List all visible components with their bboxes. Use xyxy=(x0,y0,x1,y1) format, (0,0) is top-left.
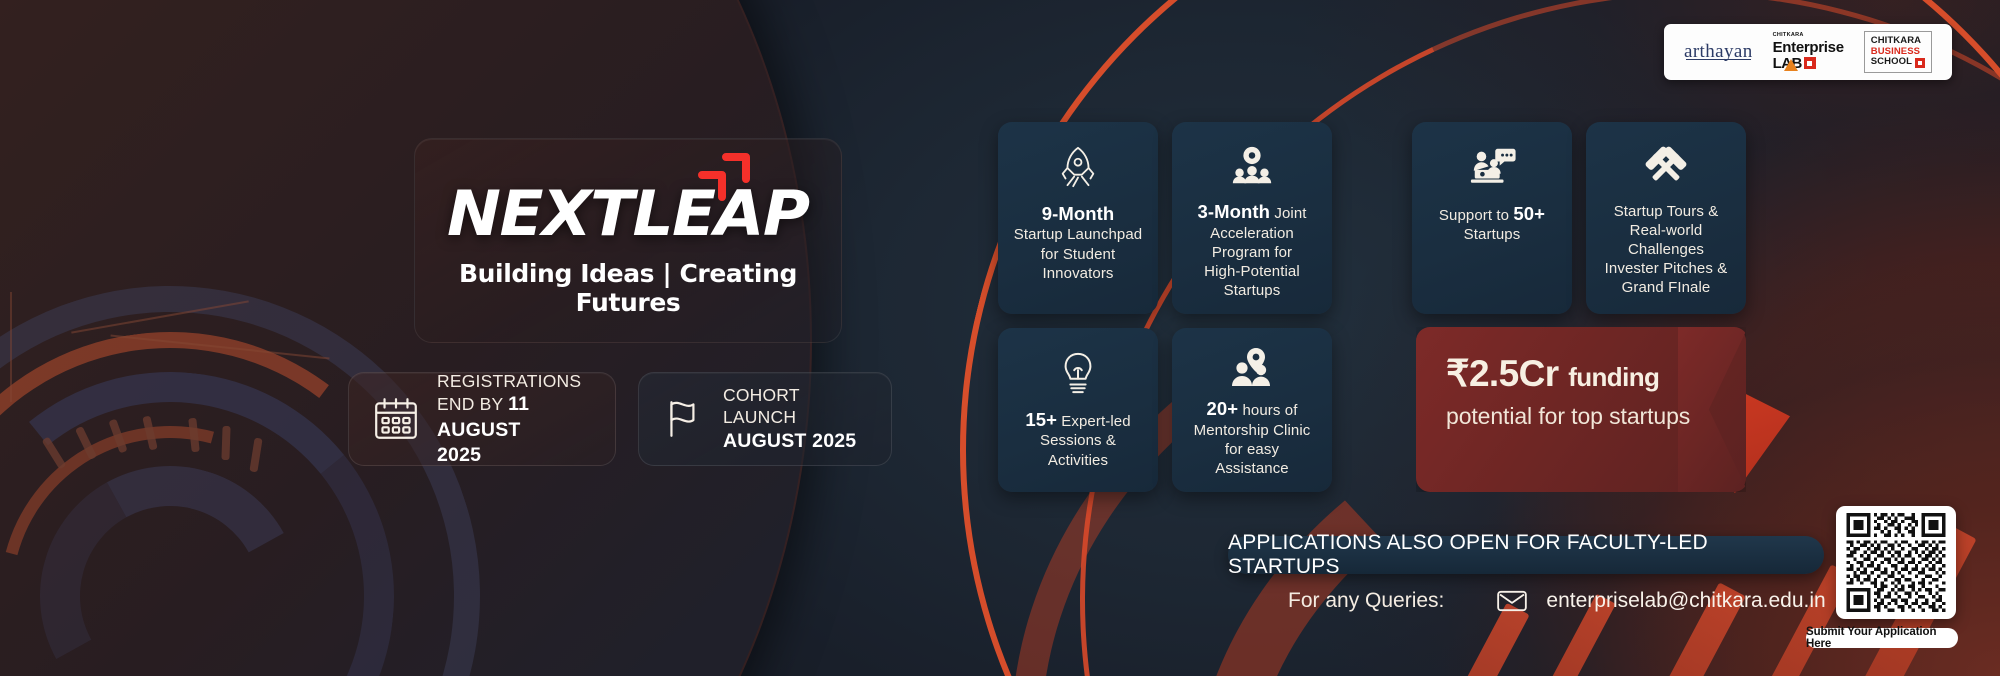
cbs-line-3: SCHOOL xyxy=(1871,57,1912,68)
feature-bold-50: 50+ xyxy=(1513,203,1545,224)
arthayan-logo: arthayan xyxy=(1684,41,1753,63)
feature-line: Startups xyxy=(1224,282,1281,299)
mentor-desk-icon xyxy=(1467,138,1517,196)
nextleap-arrow-icon xyxy=(696,149,752,201)
enterprise-lab-logo: CHITKARA Enterprise LAB xyxy=(1773,33,1844,71)
brand-tagline: Building Ideas | Creating Futures xyxy=(415,259,841,317)
cbs-line-3-row: SCHOOL xyxy=(1871,57,1925,68)
applications-open-bar: APPLICATIONS ALSO OPEN FOR FACULTY-LED S… xyxy=(1228,536,1824,574)
brand-name: NEXTLEAP xyxy=(447,183,809,245)
feature-card-tours: Startup Tours & Real-world Challenges In… xyxy=(1586,122,1746,314)
qr-code-icon[interactable] xyxy=(1836,506,1956,619)
registrations-year: 2025 xyxy=(437,444,481,466)
feature-line: Acceleration xyxy=(1210,225,1294,242)
feature-line: High-Potential xyxy=(1204,263,1300,280)
cohort-date: AUGUST 2025 xyxy=(723,430,856,452)
chitkara-business-school-logo: CHITKARA BUSINESS SCHOOL xyxy=(1864,31,1932,73)
feature-bold-9-month: 9-Month xyxy=(1042,203,1115,224)
funding-text: ₹2.5Cr funding potential for top startup… xyxy=(1446,355,1690,430)
registrations-text: REGISTRATIONS END BY 11 AUGUST 2025 xyxy=(437,370,593,469)
funding-ribbon: ₹2.5Cr funding potential for top startup… xyxy=(1416,327,1746,492)
cohort-line-2: AUGUST 2025 xyxy=(723,429,869,454)
orange-wedge-icon xyxy=(1784,59,1798,71)
feature-rest-3-month: Joint xyxy=(1270,205,1306,222)
feature-line: for Student xyxy=(1041,246,1115,263)
feature-line: Startups xyxy=(1464,226,1521,243)
feature-card-9-month: 9-Month Startup Launchpad for Student In… xyxy=(998,122,1158,314)
feature-line: Grand FInale xyxy=(1622,279,1711,296)
enterprise-lab-bottom-row: LAB xyxy=(1773,56,1844,71)
feature-line: Startup Tours & xyxy=(1614,203,1719,220)
feature-card-support-50: Support to 50+ Startups xyxy=(1412,122,1572,314)
feature-pre-support: Support to xyxy=(1439,207,1513,224)
bulb-icon xyxy=(1057,344,1099,402)
cohort-launch-card: COHORT LAUNCH AUGUST 2025 xyxy=(638,372,892,466)
funding-amount-suffix: funding xyxy=(1568,362,1659,392)
feature-rest-20: hours of xyxy=(1238,402,1297,419)
qr-submit-text: Submit Your Application Here xyxy=(1806,626,1958,650)
brand-title-block: NEXTLEAP xyxy=(454,183,802,245)
feature-line: Sessions & xyxy=(1040,432,1116,449)
feature-line: Invester Pitches & xyxy=(1605,260,1728,277)
funding-amount-row: ₹2.5Cr funding xyxy=(1446,355,1690,392)
feature-line: Activities xyxy=(1048,452,1108,469)
feature-text-tours: Startup Tours & Real-world Challenges In… xyxy=(1605,202,1728,297)
calendar-icon xyxy=(371,394,421,444)
envelope-icon xyxy=(1496,589,1528,613)
feature-line: Innovators xyxy=(1042,265,1113,282)
registrations-line-2: END BY 11 AUGUST xyxy=(437,392,593,443)
queries-label: For any Queries: xyxy=(1288,589,1444,613)
promo-banner: arthayan CHITKARA Enterprise LAB CHITKAR… xyxy=(0,0,2000,676)
flag-icon xyxy=(661,396,707,442)
qr-submit-label[interactable]: Submit Your Application Here xyxy=(1806,628,1958,648)
feature-text-15-sessions: 15+ Expert-led Sessions & Activities xyxy=(1025,408,1130,470)
funding-amount: ₹2.5Cr xyxy=(1446,353,1559,394)
feature-card-15-sessions: 15+ Expert-led Sessions & Activities xyxy=(998,328,1158,492)
rocket-icon xyxy=(1055,138,1101,196)
chitkara-red-square-icon xyxy=(1915,58,1925,68)
feature-bold-15: 15+ xyxy=(1025,409,1057,430)
registrations-line-3: 2025 xyxy=(437,443,593,468)
registrations-line-1: REGISTRATIONS xyxy=(437,370,593,393)
feature-line: Assistance xyxy=(1215,460,1289,477)
feature-line: Mentorship Clinic xyxy=(1194,422,1311,439)
location-people-icon xyxy=(1228,344,1276,391)
registrations-date-card: REGISTRATIONS END BY 11 AUGUST 2025 xyxy=(348,372,616,466)
feature-line: for easy xyxy=(1225,441,1279,458)
applications-open-text: APPLICATIONS ALSO OPEN FOR FACULTY-LED S… xyxy=(1228,531,1824,579)
feature-line: Challenges xyxy=(1628,241,1704,258)
feature-card-20-hours: 20+ hours of Mentorship Clinic for easy … xyxy=(1172,328,1332,492)
brand-logo-wrap: NEXTLEAP Building Ideas | Creating Futur… xyxy=(415,183,841,317)
feature-rest-15: Expert-led xyxy=(1057,413,1131,430)
feature-line: Program for xyxy=(1212,244,1292,261)
feature-line: Startup Launchpad xyxy=(1014,226,1142,243)
feature-line: Real-world xyxy=(1630,222,1703,239)
chitkara-red-square-icon xyxy=(1804,57,1816,69)
partner-logo-bar: arthayan CHITKARA Enterprise LAB CHITKAR… xyxy=(1664,24,1952,80)
queries-row: For any Queries: enterpriselab@chitkara.… xyxy=(1288,584,1828,618)
feature-bold-3-month: 3-Month xyxy=(1197,201,1270,222)
cohort-line-1: COHORT LAUNCH xyxy=(723,384,869,430)
enterprise-lab-chitkara-text: CHITKARA xyxy=(1773,33,1844,39)
cohort-text: COHORT LAUNCH AUGUST 2025 xyxy=(723,384,869,455)
funding-subtitle: potential for top startups xyxy=(1446,403,1690,430)
feature-bold-20: 20+ xyxy=(1207,398,1239,419)
feature-text-9-month: 9-Month Startup Launchpad for Student In… xyxy=(1014,202,1142,283)
registrations-end-by: END BY xyxy=(437,394,508,414)
enterprise-lab-enterprise-text: Enterprise xyxy=(1773,40,1844,55)
feature-text-20-hours: 20+ hours of Mentorship Clinic for easy … xyxy=(1194,397,1311,478)
brand-logo-card: NEXTLEAP Building Ideas | Creating Futur… xyxy=(414,138,842,343)
tools-icon xyxy=(1643,138,1689,196)
feature-card-3-month: 3-Month Joint Acceleration Program for H… xyxy=(1172,122,1332,314)
queries-email-link[interactable]: enterpriselab@chitkara.edu.in xyxy=(1546,589,1825,613)
team-video-icon xyxy=(1229,138,1275,194)
feature-text-3-month: 3-Month Joint Acceleration Program for H… xyxy=(1197,200,1306,300)
feature-text-support-50: Support to 50+ Startups xyxy=(1439,202,1545,245)
enterprise-lab-lab-text: LAB xyxy=(1773,56,1802,71)
